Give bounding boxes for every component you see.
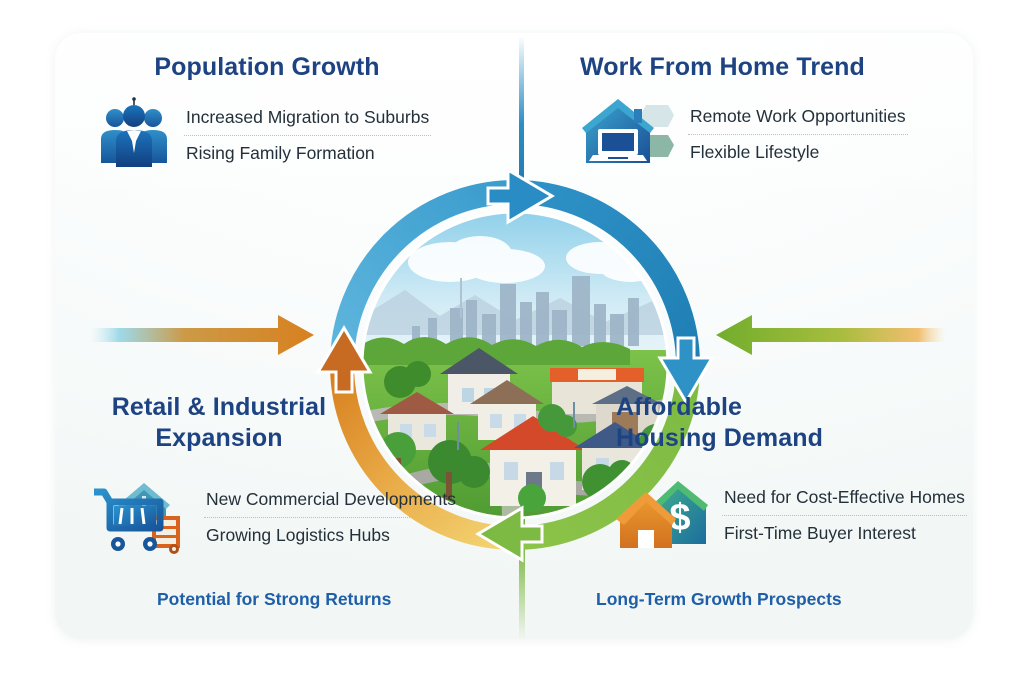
- quadrant-title: Population Growth: [102, 52, 432, 83]
- shopping-cart-warehouse-icon: [88, 478, 192, 556]
- bullet-item: New Commercial Developments: [204, 482, 458, 518]
- bullet-list: Increased Migration to Suburbs Rising Fa…: [184, 100, 431, 171]
- quadrant-work-from-home-trend: Work From Home Trend: [580, 52, 908, 171]
- bullet-list: New Commercial Developments Growing Logi…: [204, 482, 458, 553]
- group-of-people-icon: [96, 97, 172, 173]
- bullet-item: Growing Logistics Hubs: [204, 518, 458, 553]
- bullet-item: Rising Family Formation: [184, 136, 431, 171]
- bullet-item: Need for Cost-Effective Homes: [722, 480, 967, 516]
- house-with-dollar-sign-icon: $: [616, 478, 710, 552]
- quadrant-affordable-housing-demand: Affordable Housing Demand $: [616, 392, 967, 552]
- house-with-laptop-icon: [580, 97, 676, 171]
- infographic-canvas: Population Growth: [0, 0, 1024, 683]
- bullet-item: Flexible Lifestyle: [688, 135, 908, 170]
- bullet-list: Remote Work Opportunities Flexible Lifes…: [688, 99, 908, 170]
- quadrant-title-line-1: Affordable: [616, 392, 866, 423]
- right-inbound-arrow: [700, 308, 1000, 362]
- quadrant-title: Work From Home Trend: [580, 52, 908, 83]
- quadrant-retail-industrial-expansion: Retail & Industrial Expansion: [88, 392, 458, 556]
- quadrant-population-growth: Population Growth: [96, 52, 432, 173]
- bullet-item: Remote Work Opportunities: [688, 99, 908, 135]
- footer-label-left: Potential for Strong Returns: [157, 589, 391, 610]
- quadrant-title-line-2: Housing Demand: [616, 423, 866, 454]
- quadrant-title-line-1: Retail & Industrial: [94, 392, 344, 423]
- bullet-list: Need for Cost-Effective Homes First-Time…: [722, 480, 967, 551]
- footer-label-right: Long-Term Growth Prospects: [596, 589, 842, 610]
- quadrant-title-line-2: Expansion: [94, 423, 344, 454]
- bullet-item: Increased Migration to Suburbs: [184, 100, 431, 136]
- left-inbound-arrow: [30, 308, 320, 362]
- bullet-item: First-Time Buyer Interest: [722, 516, 967, 551]
